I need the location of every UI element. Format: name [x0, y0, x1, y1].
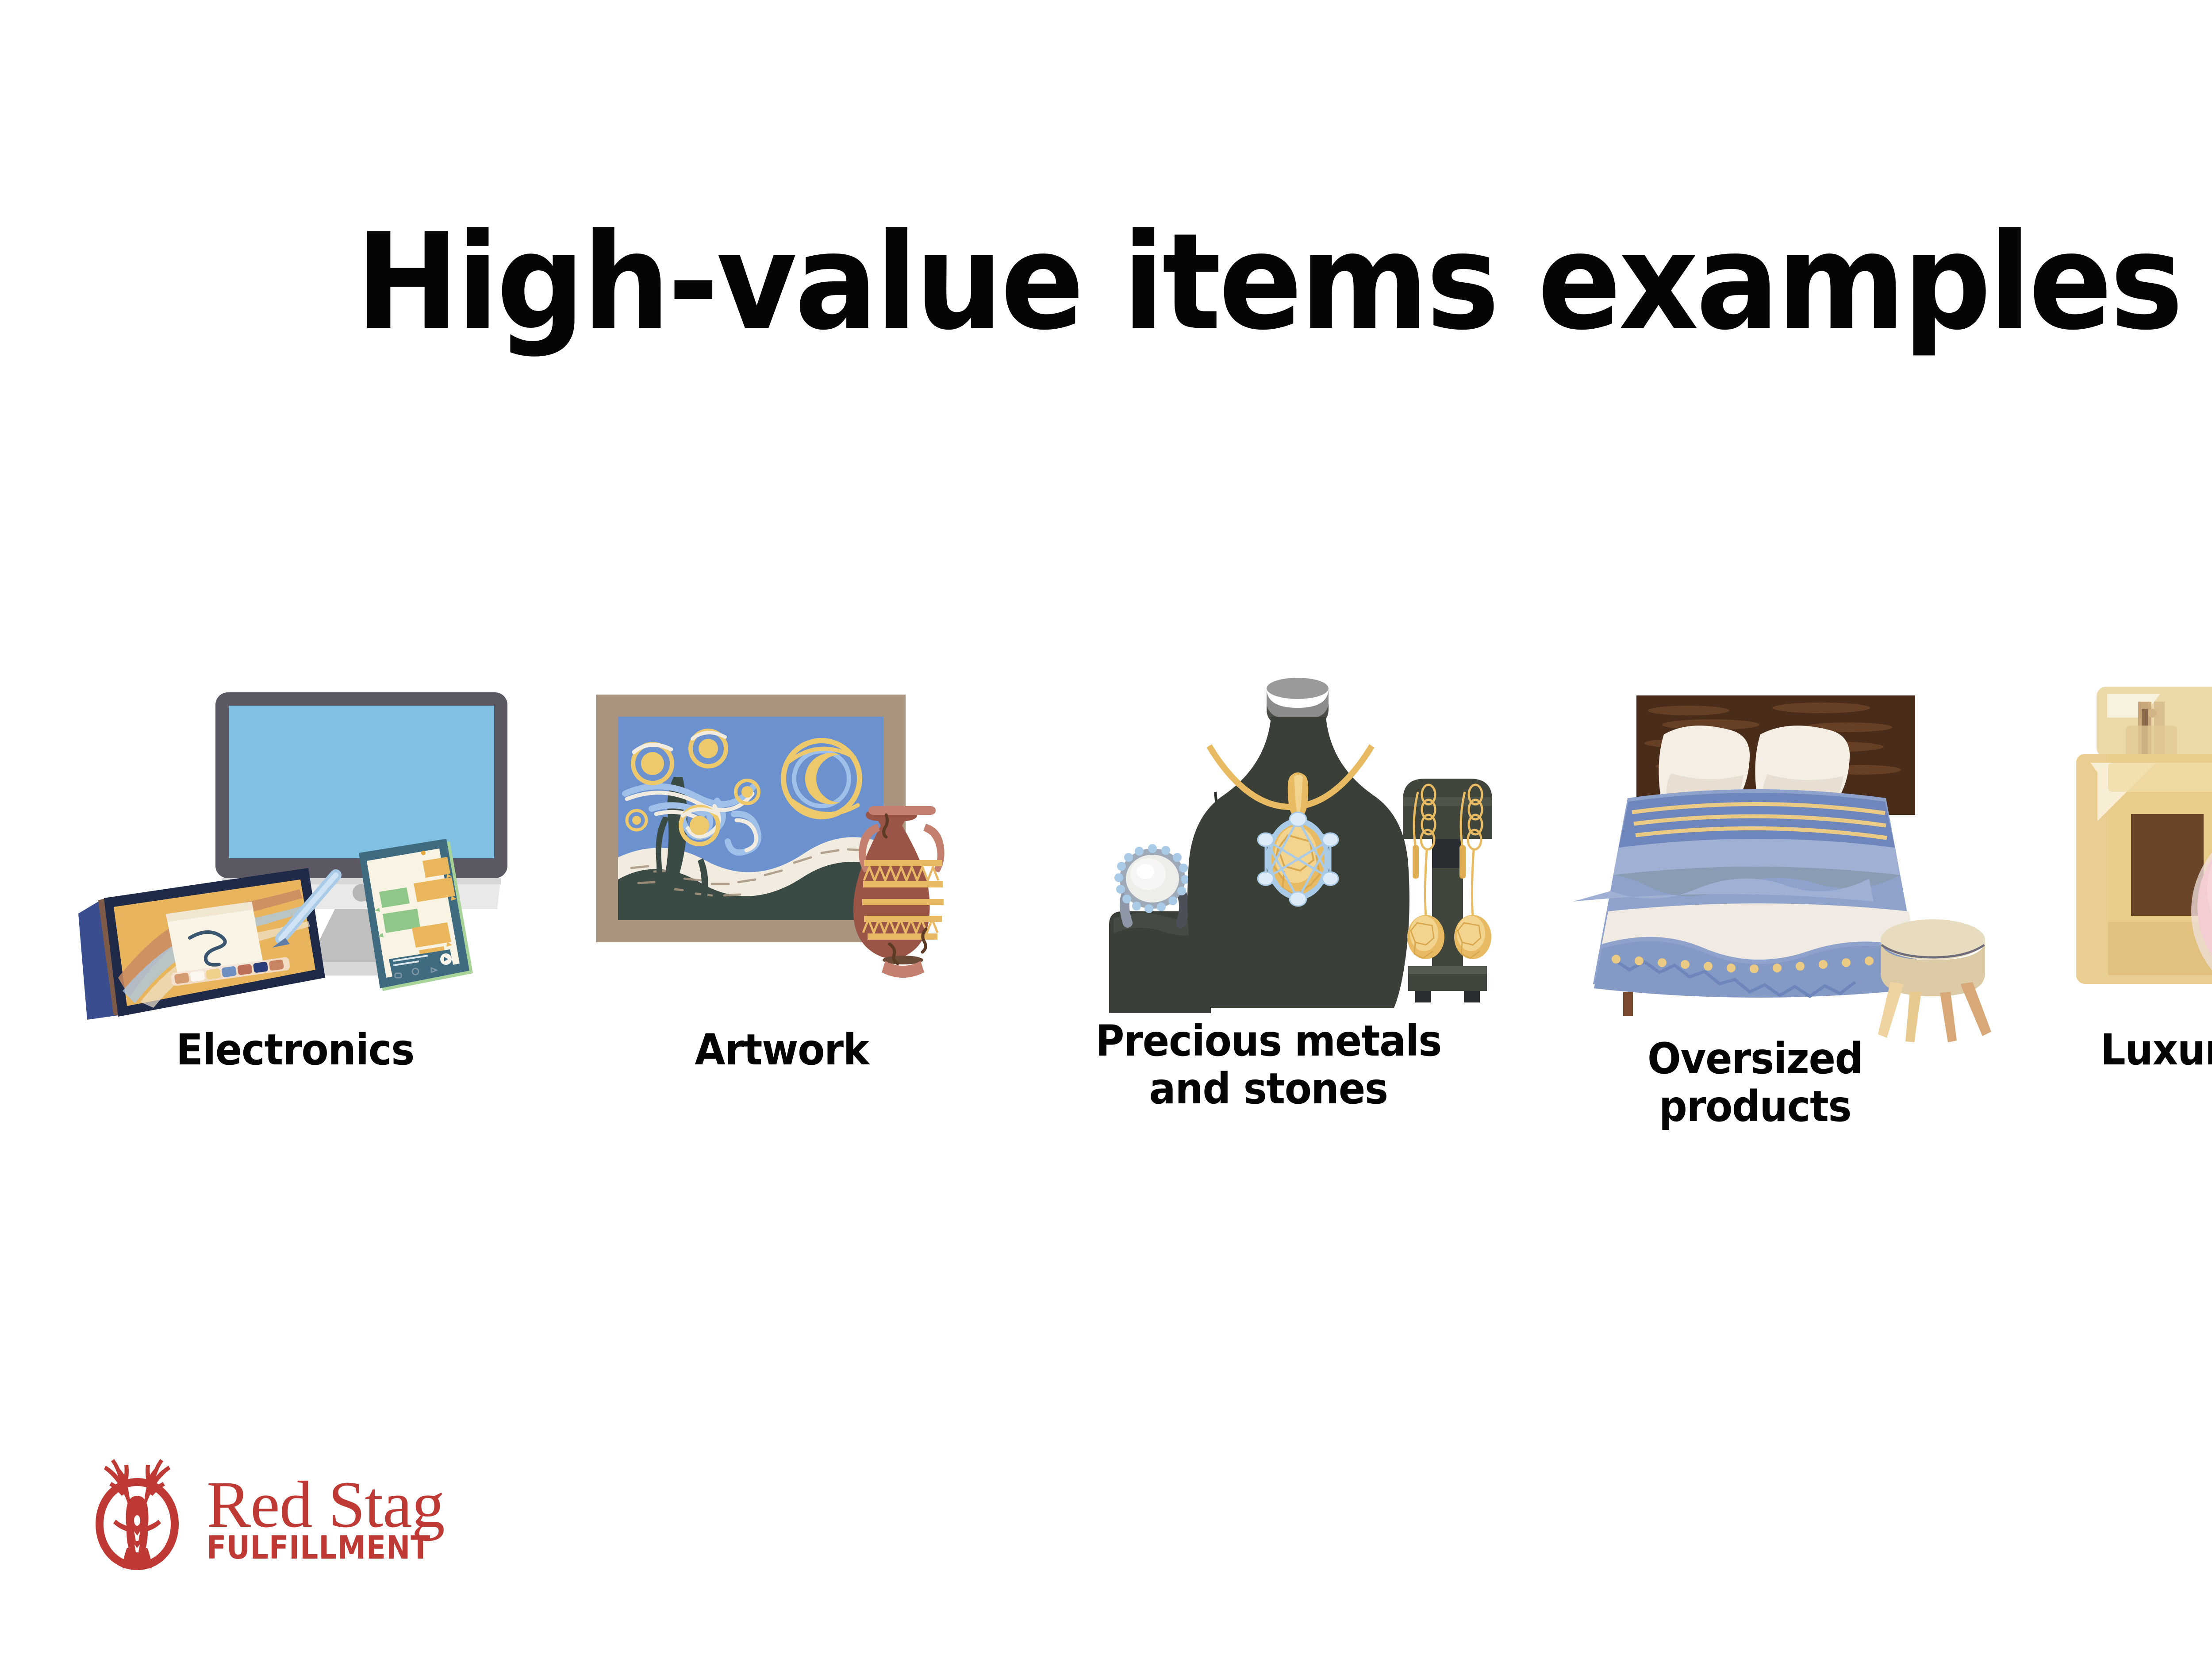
brand-logo[interactable]: Red Stag FULFILLMENT — [77, 1451, 467, 1584]
category-card-oversized: Oversized products — [1512, 664, 1998, 1217]
category-card-artwork: Artwork — [538, 664, 1025, 1217]
logo-subwordmark: FULFILLMENT — [207, 1532, 430, 1563]
category-label-luxury: Luxury items — [2016, 1026, 2212, 1074]
category-label-electronics: Electronics — [69, 1026, 522, 1074]
category-label-oversized: Oversized products — [1529, 1035, 1982, 1130]
category-label-artwork: Artwork — [556, 1026, 1008, 1074]
artwork-illustration — [538, 668, 1025, 1022]
category-card-electronics: Electronics — [52, 664, 538, 1217]
tall-gold-perfume-bottle-icon — [2076, 687, 2212, 984]
category-card-precious-metals: Precious metals and stones — [1025, 664, 1512, 1217]
bed-illustration — [1512, 672, 1998, 1026]
category-label-precious-metals: Precious metals and stones — [1042, 1018, 1495, 1113]
jewelry-illustration — [1025, 659, 1512, 1013]
category-card-luxury: Luxury items — [1998, 664, 2212, 1217]
electronics-illustration — [52, 668, 538, 1022]
perfume-illustration — [1998, 659, 2212, 1013]
logo-wordmark: Red Stag — [207, 1474, 455, 1536]
logo-text-group: Red Stag FULFILLMENT — [207, 1471, 455, 1563]
mannequin-bust-with-necklace-icon — [1187, 678, 1409, 1008]
stag-head-in-oval-icon — [77, 1453, 197, 1582]
tablet-with-stylus-icon — [78, 868, 336, 1020]
gold-earring-display-icon — [1403, 779, 1492, 1002]
round-stool-icon — [1878, 919, 1991, 1042]
bed-with-headboard-icon — [1573, 695, 1923, 1016]
greek-amphora-vase-icon — [853, 806, 945, 978]
category-row: Electronics — [0, 664, 2212, 1217]
page-title: High-value items examples — [89, 212, 2212, 352]
